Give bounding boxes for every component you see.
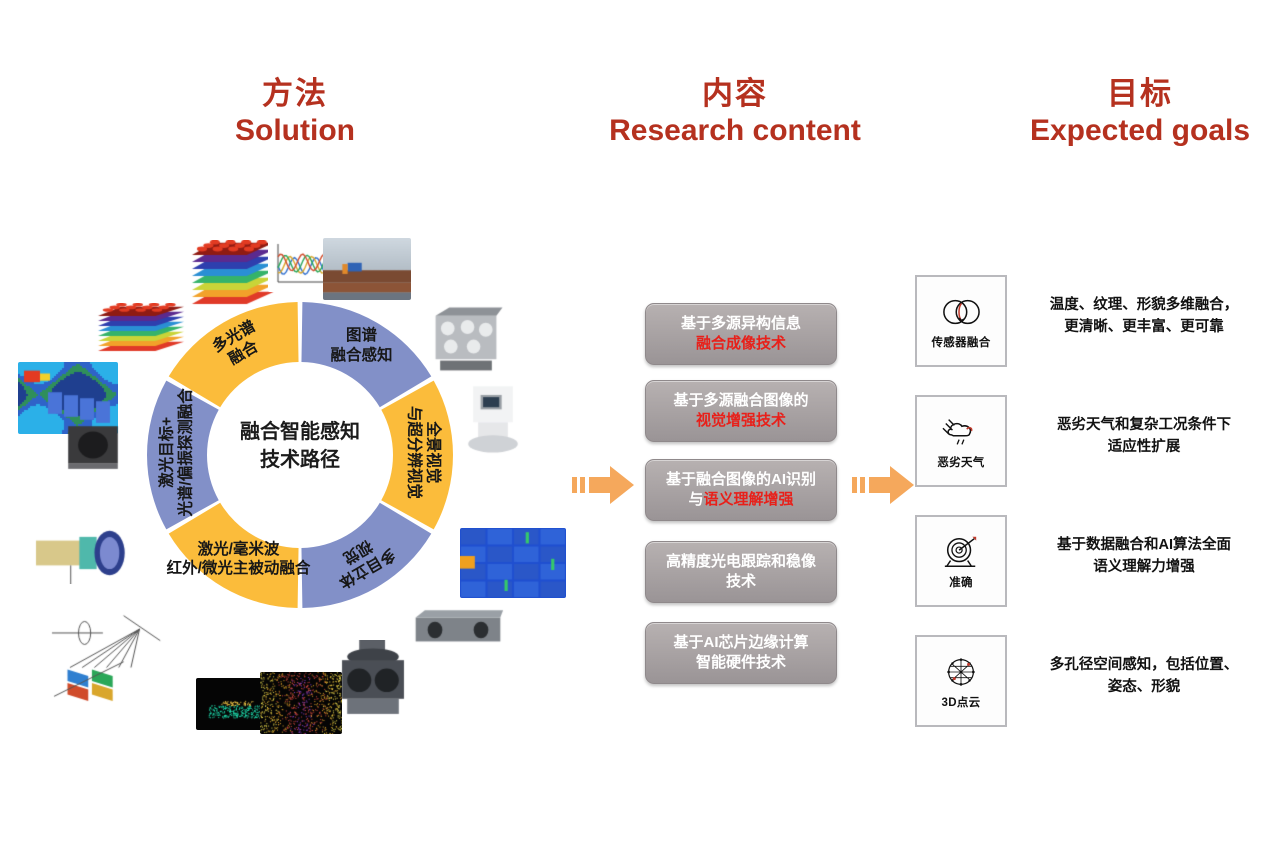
pipeline-inspection-photo (323, 238, 411, 300)
goal-label: 准确 (949, 574, 973, 590)
goal-description-1: 温度、纹理、形貌多维融合， 更清晰、更丰富、更可靠 (1028, 295, 1260, 339)
gimbal-eo-turret (330, 640, 416, 724)
infrared-camera (62, 420, 124, 472)
research-card-line1: 基于融合图像的AI识别 (666, 470, 816, 490)
research-card-line2-emphasis: 智能硬件技术 (696, 654, 786, 671)
goal-label: 传感器融合 (932, 334, 991, 350)
donut-segment-3 (169, 503, 299, 608)
research-card-1[interactable]: 基于多源异构信息融合成像技术 (645, 303, 837, 365)
page-title-research-content: 内容 Research content (595, 75, 875, 149)
header-cn-solution: 方法 (155, 75, 435, 113)
header-en-goals: Expected goals (1000, 113, 1268, 150)
research-card-line2-emphasis: 融合成像技术 (696, 335, 786, 352)
research-card-line1: 高精度光电跟踪和稳像 (666, 552, 816, 572)
goal-box-2[interactable]: 恶劣天气 (915, 395, 1007, 487)
research-card-line2: 视觉增强技术 (696, 411, 786, 431)
donut-segment-2 (301, 503, 431, 608)
goal-box-1[interactable]: 传感器融合 (915, 275, 1007, 367)
research-card-line2: 技术 (726, 572, 756, 592)
arrow-solution-to-content (572, 462, 636, 508)
research-card-5[interactable]: 基于AI芯片边缘计算智能硬件技术 (645, 622, 837, 684)
goal-description-3: 基于数据融合和AI算法全面 语义理解力增强 (1028, 535, 1260, 579)
research-card-line2: 融合成像技术 (696, 334, 786, 354)
header-cn-content: 内容 (595, 75, 875, 113)
research-card-4[interactable]: 高精度光电跟踪和稳像技术 (645, 541, 837, 603)
research-card-line1: 基于多源异构信息 (681, 314, 801, 334)
donut-segment-5 (169, 302, 299, 407)
research-card-line2-emphasis: 视觉增强技术 (696, 412, 786, 429)
goal-box-4[interactable]: 3D点云 (915, 635, 1007, 727)
page-title-expected-goals: 目标 Expected goals (1000, 75, 1268, 149)
research-card-line2: 智能硬件技术 (696, 653, 786, 673)
goal-box-3[interactable]: 准确 (915, 515, 1007, 607)
spectral-sheet (92, 303, 188, 355)
scanner-device (462, 382, 524, 454)
hyperspectral-cube (186, 240, 278, 308)
point-cloud-icon (938, 653, 984, 691)
research-card-line2: 与语义理解增强 (688, 490, 793, 510)
optics-diagram (48, 608, 170, 704)
severe-weather-icon (938, 413, 984, 451)
header-en-solution: Solution (155, 113, 435, 150)
research-card-line2-prefix: 与 (688, 491, 703, 508)
page-title-solution: 方法 Solution (155, 75, 435, 149)
research-card-line1: 基于多源融合图像的 (673, 391, 808, 411)
research-card-line2-emphasis: 技术 (726, 573, 756, 590)
sensor-fusion-icon (938, 293, 984, 331)
research-card-3[interactable]: 基于融合图像的AI识别与语义理解增强 (645, 459, 837, 521)
panoramic-multi-camera (428, 306, 504, 376)
stereo-depth-map (460, 528, 566, 598)
stereo-camera-bar (412, 604, 504, 656)
research-card-line2-emphasis: 语义理解增强 (704, 491, 794, 508)
header-cn-goals: 目标 (1000, 75, 1268, 113)
technology-roadmap-donut: 融合智能感知 技术路径 图谱 融合感知全景视觉 与超分辨视觉多目立体 视觉激光/… (145, 300, 455, 610)
goal-label: 3D点云 (942, 694, 981, 710)
research-card-line1: 基于AI芯片边缘计算 (673, 633, 808, 653)
goal-description-2: 恶劣天气和复杂工况条件下 适应性扩展 (1028, 415, 1260, 459)
arrow-content-to-goals (852, 462, 916, 508)
donut-segment-0 (301, 302, 431, 407)
header-en-content: Research content (595, 113, 875, 150)
target-accuracy-icon (938, 533, 984, 571)
optical-module (34, 522, 142, 584)
goal-description-4: 多孔径空间感知，包括位置、 姿态、形貌 (1028, 655, 1260, 699)
donut-center-label: 融合智能感知 技术路径 (200, 418, 400, 474)
research-card-2[interactable]: 基于多源融合图像的视觉增强技术 (645, 380, 837, 442)
goal-label: 恶劣天气 (937, 454, 984, 470)
